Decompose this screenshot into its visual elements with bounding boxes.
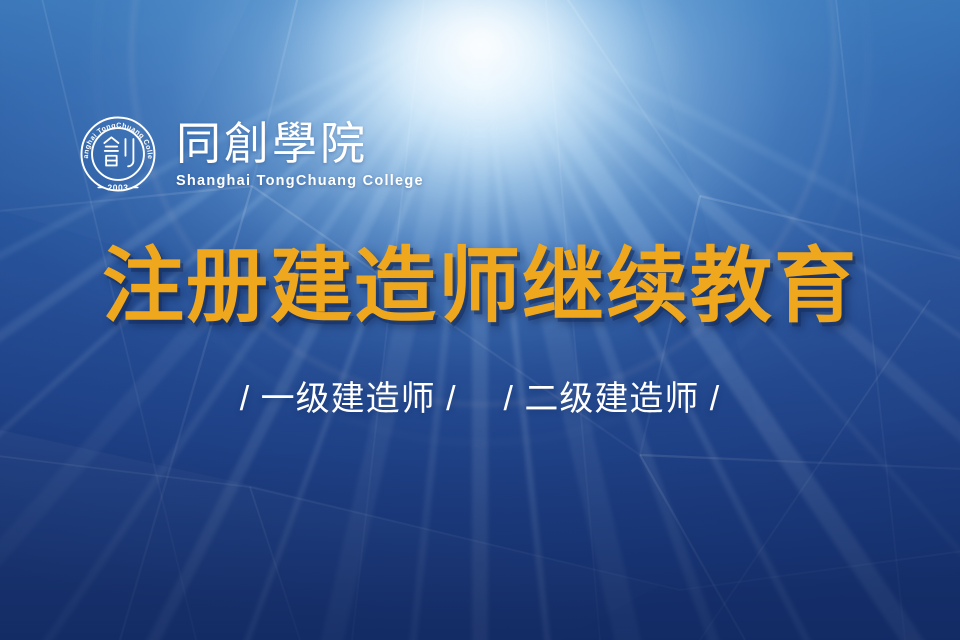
wordmark: 同創學院 Shanghai TongChuang College — [176, 119, 424, 188]
college-logo[interactable]: Shanghai TongChuang College — [74, 110, 424, 198]
promo-banner: Shanghai TongChuang College — [0, 0, 960, 640]
subtitle-item-level-2: / 二级建造师 / — [503, 382, 720, 416]
subtitle-item-level-1: / 一级建造师 / — [240, 382, 457, 416]
svg-text:2003: 2003 — [108, 183, 129, 193]
college-seal-icon: Shanghai TongChuang College — [74, 110, 162, 198]
wordmark-chinese: 同創學院 — [176, 121, 424, 167]
wordmark-english: Shanghai TongChuang College — [176, 173, 424, 189]
subtitle-row: / 一级建造师 / / 二级建造师 / — [0, 382, 960, 416]
page-title: 注册建造师继续教育 — [0, 246, 960, 328]
